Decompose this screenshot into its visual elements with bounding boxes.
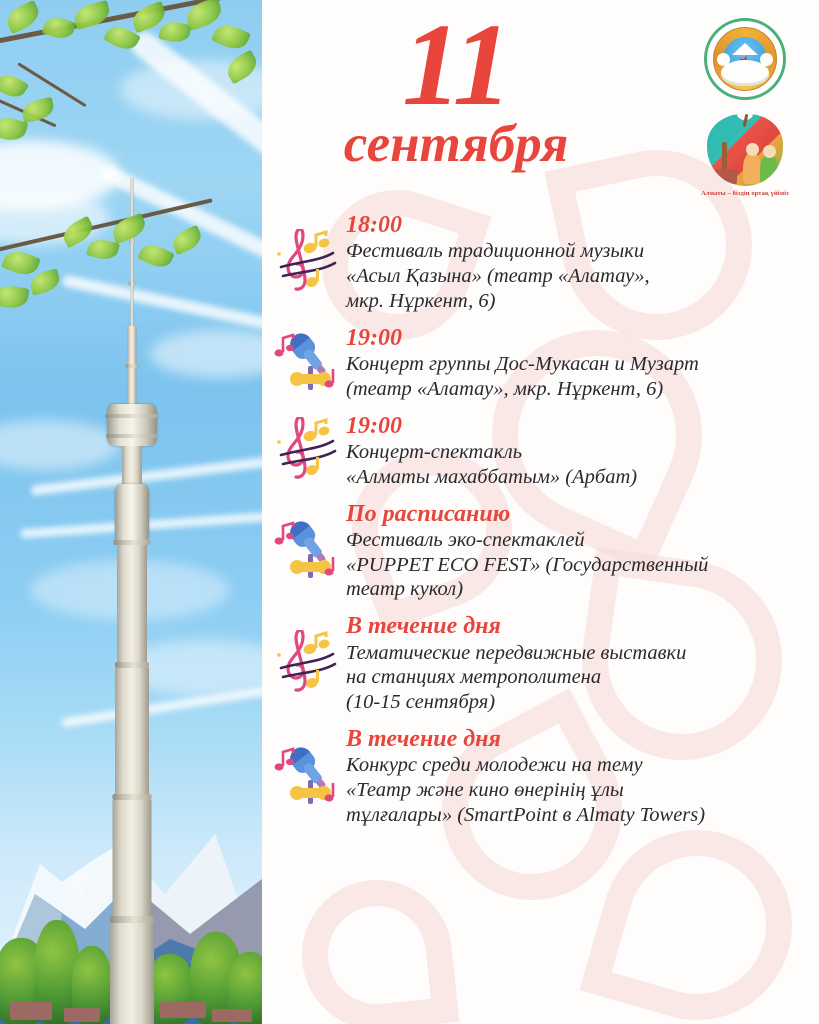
tower-shaft	[113, 800, 152, 920]
event-description: Концерт группы Дос-Мукасан и Музарт (теа…	[346, 352, 807, 402]
event-body: По расписанию Фестиваль эко-спектаклей «…	[346, 499, 807, 603]
rooftop	[64, 1008, 100, 1022]
treble-clef-icon	[268, 229, 346, 295]
event-item: В течение дня Тематические передвижные в…	[268, 611, 807, 715]
event-time: 19:00	[346, 324, 807, 352]
event-description: Тематические передвижные выставки на ста…	[346, 641, 807, 715]
event-body: 19:00 Концерт-спектакль «Алматы махаббат…	[346, 411, 807, 490]
emblem-mountain-icon	[732, 43, 758, 55]
leaf	[1, 246, 41, 279]
leaf	[3, 0, 43, 34]
event-description: Концерт-спектакль «Алматы махаббатым» (А…	[346, 440, 807, 490]
tower-shaft	[117, 545, 147, 665]
event-body: 18:00 Фестиваль традиционной музыки «Асы…	[346, 210, 807, 314]
almaty-city-emblem-icon	[704, 18, 786, 100]
leaf	[158, 19, 192, 45]
logo-group: Алматы – біздің ортақ үйіміз	[681, 18, 809, 197]
tower-upper-shaft-pod	[115, 484, 149, 544]
leaf	[169, 225, 205, 255]
content-panel: 11 сентября	[262, 0, 819, 1024]
apple-icon	[707, 114, 783, 186]
event-description: Конкурс среди молодежи на тему «Театр жә…	[346, 753, 807, 827]
event-body: В течение дня Конкурс среди молодежи на …	[346, 724, 807, 828]
month-name: сентября	[276, 118, 636, 171]
event-time: В течение дня	[346, 612, 807, 640]
event-time: По расписанию	[346, 500, 807, 528]
apple-logo-tagline: Алматы – біздің ортақ үйіміз	[693, 190, 797, 197]
event-list: 18:00 Фестиваль традиционной музыки «Асы…	[262, 206, 819, 828]
apple-building-icon	[715, 169, 737, 184]
tower-ring	[126, 364, 139, 368]
apple-person-head-icon	[746, 143, 759, 156]
tower-ring	[110, 916, 154, 923]
emblem-snow-leopard-icon	[721, 60, 769, 86]
event-body: В течение дня Тематические передвижные в…	[346, 611, 807, 715]
leaf	[0, 283, 30, 311]
almaty-apple-logo: Алматы – біздің ортақ үйіміз	[693, 114, 797, 197]
tower-deck-ring	[106, 434, 158, 438]
day-number: 11	[276, 6, 636, 124]
leaf	[20, 97, 55, 123]
leaf	[42, 14, 77, 42]
microphone-icon	[268, 517, 346, 583]
leaf	[72, 0, 112, 30]
treble-clef-icon	[268, 417, 346, 483]
tower-antenna-ring	[129, 240, 135, 243]
poster-header: 11 сентября	[262, 0, 819, 206]
event-item: 18:00 Фестиваль традиционной музыки «Асы…	[268, 210, 807, 314]
tower-observation-deck	[107, 404, 157, 446]
event-item: 19:00 Концерт-спектакль «Алматы махаббат…	[268, 411, 807, 490]
event-item: По расписанию Фестиваль эко-спектаклей «…	[268, 499, 807, 603]
tower-antenna	[131, 178, 134, 326]
treble-clef-icon	[268, 630, 346, 696]
event-description: Фестиваль традиционной музыки «Асыл Қазы…	[346, 239, 807, 313]
event-time: В течение дня	[346, 725, 807, 753]
leaf	[211, 20, 251, 54]
event-time: 18:00	[346, 211, 807, 239]
rooftop	[212, 1009, 252, 1022]
leaf	[0, 70, 29, 102]
almaty-tv-tower-watercolor	[0, 0, 262, 1024]
tower-antenna-ring	[129, 282, 136, 285]
event-body: 19:00 Концерт группы Дос-Мукасан и Музар…	[346, 323, 807, 402]
apple-person-icon	[743, 152, 761, 184]
event-item: 19:00 Концерт группы Дос-Мукасан и Музар…	[268, 323, 807, 402]
rooftop	[10, 1002, 52, 1020]
tower-deck-ring	[105, 414, 159, 418]
microphone-icon	[268, 329, 346, 395]
apple-person-icon	[760, 154, 778, 184]
tower-base	[110, 923, 154, 1024]
date-heading: 11 сентября	[276, 6, 636, 171]
event-poster: 11 сентября	[0, 0, 819, 1024]
tv-tower	[96, 178, 168, 1024]
event-item: В течение дня Конкурс среди молодежи на …	[268, 724, 807, 828]
tower-neck	[122, 446, 142, 486]
apple-person-head-icon	[763, 145, 776, 158]
event-description: Фестиваль эко-спектаклей «PUPPET ECO FES…	[346, 528, 807, 602]
microphone-icon	[268, 743, 346, 809]
event-time: 19:00	[346, 412, 807, 440]
tower-shaft	[115, 668, 149, 798]
